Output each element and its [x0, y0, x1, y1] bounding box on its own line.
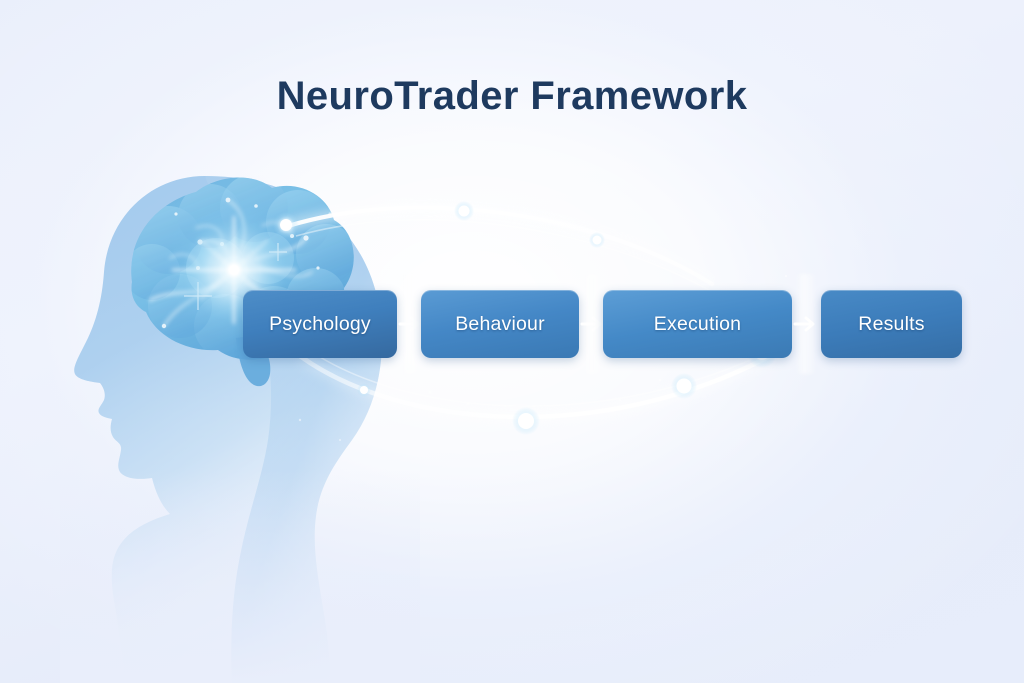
- page-title: NeuroTrader Framework: [0, 74, 1024, 119]
- flow-node-results[interactable]: Results: [821, 290, 962, 358]
- arc-node: [360, 386, 368, 394]
- flow-node-execution[interactable]: Execution: [603, 290, 792, 358]
- flow-node-label: Behaviour: [455, 313, 545, 336]
- upper-neural-arc: [273, 201, 726, 300]
- flow-node-behaviour[interactable]: Behaviour: [421, 290, 579, 358]
- arc-node: [671, 373, 697, 399]
- flow-node-label: Execution: [654, 313, 741, 336]
- arc-node: [677, 379, 692, 394]
- human-head-profile: [60, 176, 420, 683]
- arc-node: [273, 212, 299, 238]
- flow-arrow-icon: [792, 313, 822, 335]
- arc-node: [589, 232, 605, 248]
- arc-node: [518, 413, 534, 429]
- flow-node-label: Psychology: [269, 313, 371, 336]
- diagram-canvas: NeuroTrader Framework Psychology Behavio…: [0, 0, 1024, 683]
- flow-node-label: Results: [858, 313, 924, 336]
- flow-node-psychology[interactable]: Psychology: [243, 290, 397, 358]
- arc-node: [357, 383, 371, 397]
- arc-node: [593, 236, 602, 245]
- arc-node: [280, 219, 292, 231]
- arc-node: [454, 201, 474, 221]
- arc-node: [459, 206, 470, 217]
- process-flow: Psychology Behaviour Execution Results: [0, 290, 1024, 358]
- arc-node: [512, 407, 540, 435]
